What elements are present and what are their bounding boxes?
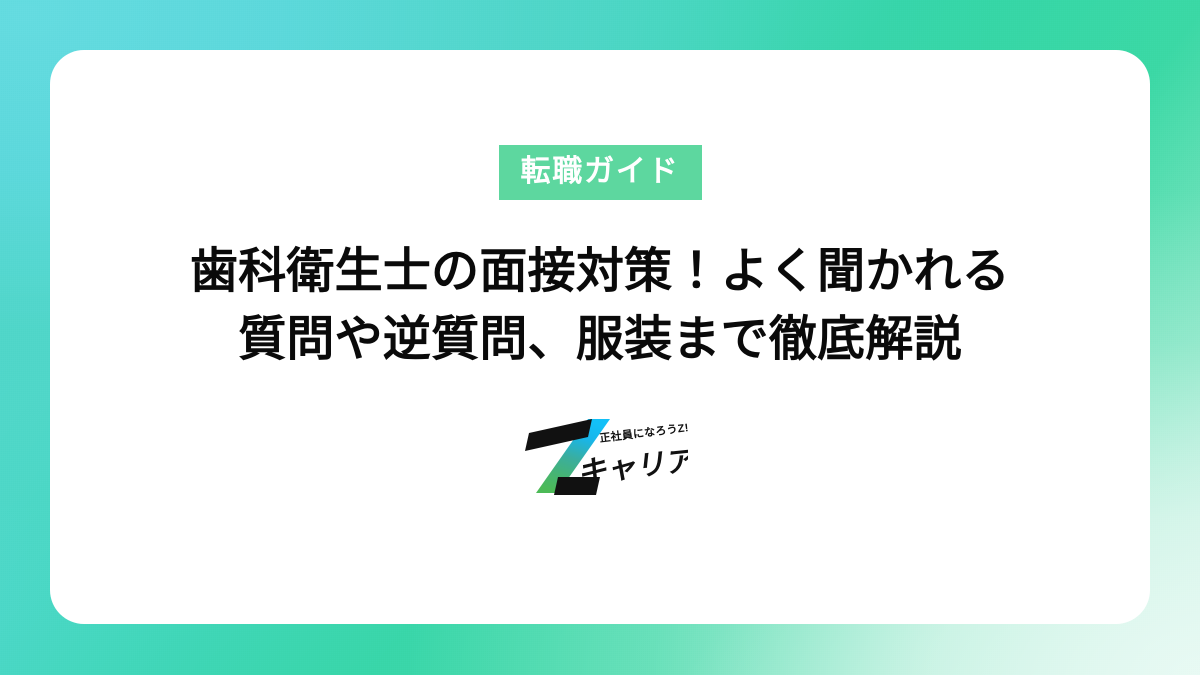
brand-logo: 正社員になろうZ! キャリア (512, 414, 688, 498)
content-card: 転職ガイド 歯科衛生士の面接対策！よく聞かれる 質問や逆質問、服装まで徹底解説 (50, 50, 1150, 624)
category-badge: 転職ガイド (499, 145, 702, 200)
article-title: 歯科衛生士の面接対策！よく聞かれる 質問や逆質問、服装まで徹底解説 (110, 238, 1090, 374)
article-title-line-2: 質問や逆質問、服装まで徹底解説 (110, 306, 1090, 374)
logo-tagline: 正社員になろうZ! (599, 420, 688, 445)
logo-wordmark: キャリア (578, 445, 688, 489)
article-title-line-1: 歯科衛生士の面接対策！よく聞かれる (110, 238, 1090, 306)
